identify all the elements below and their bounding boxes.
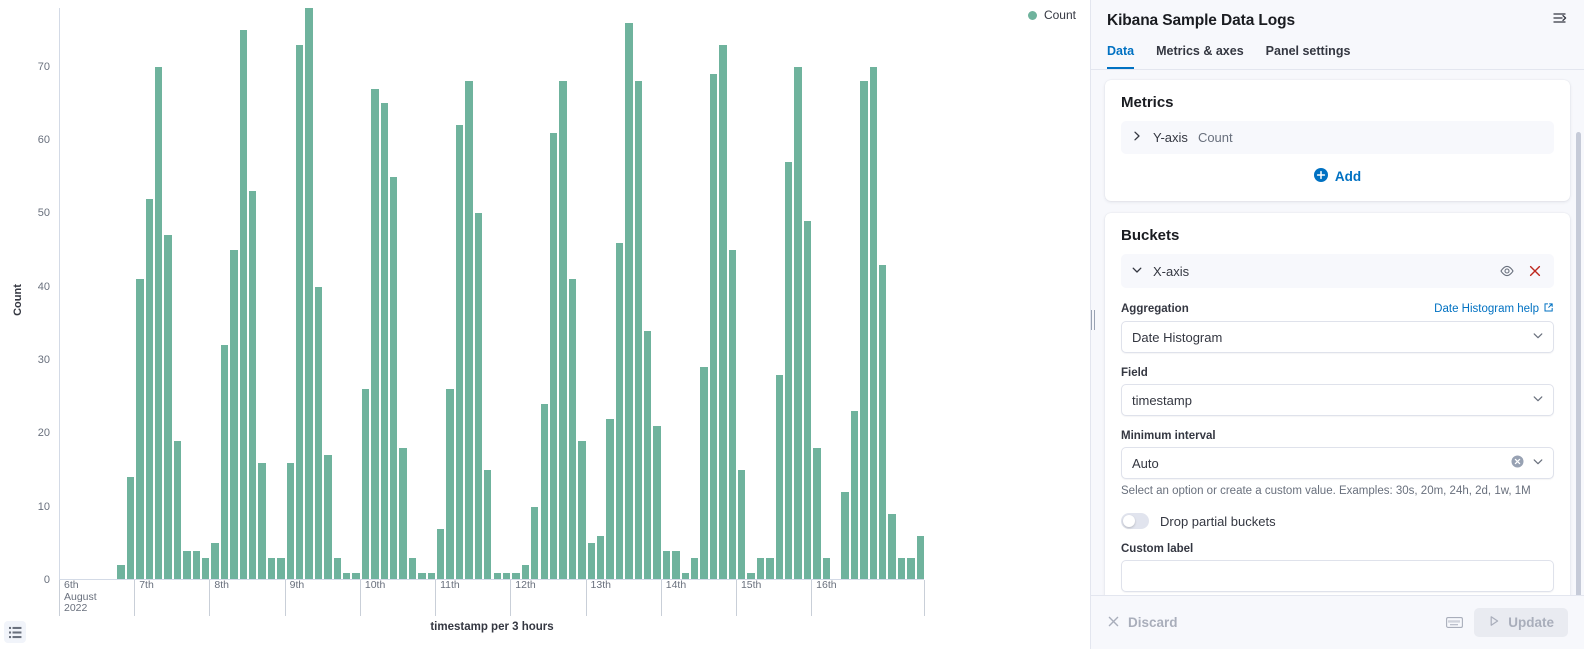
bar[interactable] — [502, 572, 511, 579]
editor-tabs: Data Metrics & axes Panel settings — [1091, 44, 1584, 70]
aggregation-label: Aggregation — [1121, 303, 1189, 315]
bar[interactable] — [398, 447, 407, 579]
bar[interactable] — [681, 572, 690, 579]
bar[interactable] — [333, 557, 342, 579]
buckets-card: Buckets X-axis — [1105, 213, 1570, 595]
bar[interactable] — [182, 550, 191, 579]
x-axis-tick-label: 10th — [360, 580, 385, 616]
close-icon — [1107, 615, 1120, 631]
custom-label-input[interactable] — [1121, 560, 1554, 592]
custom-label-label: Custom label — [1121, 543, 1554, 555]
drop-partial-buckets-row[interactable]: Drop partial buckets — [1121, 513, 1554, 529]
bar[interactable] — [417, 572, 426, 579]
bar[interactable] — [126, 476, 135, 579]
bar[interactable] — [859, 80, 868, 579]
bar[interactable] — [568, 278, 577, 579]
resize-grip-line — [1094, 310, 1095, 330]
bar[interactable] — [276, 557, 285, 579]
add-metric-button[interactable]: Add — [1121, 168, 1554, 185]
y-axis-tick-label: 40 — [6, 281, 50, 293]
x-axis-tick-label: 7th — [134, 580, 154, 616]
bar[interactable] — [737, 469, 746, 579]
bar[interactable] — [916, 535, 925, 579]
bar[interactable] — [192, 550, 201, 579]
bar[interactable] — [577, 440, 586, 579]
bar[interactable] — [342, 572, 351, 579]
chevron-right-icon[interactable] — [1131, 130, 1143, 145]
drop-partial-buckets-toggle[interactable] — [1121, 513, 1149, 529]
bar[interactable] — [671, 550, 680, 579]
y-axis-tick-label: 50 — [6, 207, 50, 219]
chart-pane: Count Count 010203040506070 6th August 2… — [0, 0, 1090, 649]
x-axis-tick-label: 16th — [811, 580, 836, 616]
collapse-panel-icon[interactable] — [1550, 8, 1570, 28]
chevron-down-icon — [1532, 456, 1544, 471]
field-label: Field — [1121, 367, 1554, 379]
buckets-title: Buckets — [1121, 227, 1554, 244]
bar[interactable] — [540, 403, 549, 579]
bar[interactable] — [248, 190, 257, 579]
bar[interactable] — [511, 572, 520, 579]
aggregation-select[interactable]: Date Histogram — [1121, 321, 1554, 353]
editor-scrollbar[interactable] — [1576, 132, 1581, 595]
bar[interactable] — [840, 491, 849, 579]
x-axis: 6th August 20227th8th9th10th11th12th13th… — [59, 580, 925, 620]
update-label: Update — [1508, 615, 1554, 630]
x-axis-tick-label: 14th — [661, 580, 686, 616]
drop-partial-buckets-label: Drop partial buckets — [1160, 514, 1276, 529]
bar[interactable] — [135, 278, 144, 579]
page-title: Kibana Sample Data Logs — [1107, 12, 1568, 30]
y-axis-tick-label: 60 — [6, 134, 50, 146]
bar[interactable] — [314, 286, 323, 579]
bar[interactable] — [521, 564, 530, 579]
plot-bars-area[interactable] — [59, 8, 924, 580]
bar[interactable] — [775, 374, 784, 579]
aggregation-value: Date Histogram — [1132, 330, 1222, 345]
x-axis-tick-label: 6th August 2022 — [59, 580, 97, 616]
minimum-interval-hint: Select an option or create a custom valu… — [1121, 484, 1554, 499]
bar[interactable] — [154, 66, 163, 579]
tab-data[interactable]: Data — [1107, 44, 1134, 69]
date-histogram-help-link[interactable]: Date Histogram help — [1434, 302, 1554, 316]
bar[interactable] — [803, 220, 812, 579]
y-axis: 010203040506070 — [0, 0, 50, 600]
bar[interactable] — [530, 506, 539, 579]
metric-row-label: Y-axis — [1153, 130, 1188, 145]
toggle-knob — [1123, 515, 1135, 527]
y-axis-tick-label: 70 — [6, 61, 50, 73]
bar[interactable] — [558, 80, 567, 579]
x-axis-tick-label: 8th — [209, 580, 229, 616]
x-axis-tick-label: 12th — [510, 580, 535, 616]
list-icon[interactable] — [4, 621, 26, 643]
discard-label: Discard — [1128, 615, 1178, 630]
metric-row-y-axis[interactable]: Y-axis Count — [1121, 121, 1554, 154]
tab-metrics-and-axes[interactable]: Metrics & axes — [1156, 44, 1244, 69]
eye-icon[interactable] — [1498, 262, 1516, 280]
bar[interactable] — [587, 542, 596, 579]
plot-wrapper: Count 010203040506070 6th August 20227th… — [0, 0, 1090, 649]
bar[interactable] — [436, 528, 445, 579]
editor-body: Metrics Y-axis Count — [1091, 70, 1584, 595]
bar[interactable] — [709, 73, 718, 579]
bar[interactable] — [652, 425, 661, 579]
bucket-row-x-axis[interactable]: X-axis — [1121, 254, 1554, 288]
bar[interactable] — [878, 264, 887, 579]
bar[interactable] — [634, 80, 643, 579]
bar[interactable] — [370, 88, 379, 579]
clear-icon[interactable] — [1511, 455, 1524, 471]
bar[interactable] — [351, 572, 360, 579]
bar[interactable] — [427, 572, 436, 579]
y-axis-tick-label: 10 — [6, 501, 50, 513]
close-icon[interactable] — [1526, 262, 1544, 280]
bar[interactable] — [210, 542, 219, 579]
bar[interactable] — [549, 132, 558, 579]
resize-grip-line — [1091, 310, 1092, 330]
update-button[interactable]: Update — [1474, 608, 1568, 637]
minimum-interval-label: Minimum interval — [1121, 430, 1554, 442]
x-axis-tick-label: 11th — [435, 580, 460, 616]
x-axis-tick-label: 13th — [586, 580, 611, 616]
bar[interactable] — [718, 44, 727, 579]
chevron-down-icon[interactable] — [1131, 264, 1143, 279]
bar[interactable] — [286, 462, 295, 579]
bar[interactable] — [257, 462, 266, 579]
bar[interactable] — [662, 550, 671, 579]
editor-footer: Discard Update — [1091, 595, 1584, 649]
chevron-down-icon — [1532, 393, 1544, 408]
metric-row-value: Count — [1198, 130, 1233, 145]
bar[interactable] — [455, 124, 464, 579]
editor-header: Kibana Sample Data Logs — [1091, 0, 1584, 30]
x-axis-end-tick — [924, 580, 929, 616]
bar[interactable] — [699, 366, 708, 579]
bar[interactable] — [869, 66, 878, 579]
bar[interactable] — [229, 249, 238, 579]
tab-panel-settings[interactable]: Panel settings — [1266, 44, 1351, 69]
bar[interactable] — [389, 176, 398, 579]
x-axis-title: timestamp per 3 hours — [59, 621, 925, 633]
minimum-interval-select[interactable]: Auto — [1121, 447, 1554, 479]
bar[interactable] — [887, 513, 896, 579]
bar[interactable] — [728, 249, 737, 579]
bar[interactable] — [822, 557, 831, 579]
bar[interactable] — [116, 564, 125, 579]
bar[interactable] — [624, 22, 633, 579]
x-axis-tick-label: 15th — [736, 580, 761, 616]
keyboard-icon[interactable] — [1444, 615, 1464, 631]
help-link-label: Date Histogram help — [1434, 303, 1539, 315]
bar[interactable] — [643, 330, 652, 579]
bar[interactable] — [765, 557, 774, 579]
bar[interactable] — [361, 388, 370, 579]
bar[interactable] — [493, 572, 502, 579]
bar[interactable] — [605, 418, 614, 579]
metrics-title: Metrics — [1121, 94, 1554, 111]
bar[interactable] — [746, 572, 755, 579]
bar[interactable] — [793, 66, 802, 579]
bar[interactable] — [615, 242, 624, 579]
kibana-visualize-editor: Count Count 010203040506070 6th August 2… — [0, 0, 1584, 649]
aggregation-label-row: Aggregation Date Histogram help — [1121, 302, 1554, 316]
x-axis-tick-label: 9th — [285, 580, 305, 616]
bar[interactable] — [295, 44, 304, 579]
metrics-card: Metrics Y-axis Count — [1105, 80, 1570, 201]
bar[interactable] — [408, 557, 417, 579]
plus-circle-icon — [1314, 168, 1328, 185]
bar[interactable] — [474, 212, 483, 579]
bar[interactable] — [850, 410, 859, 579]
bar[interactable] — [756, 557, 765, 579]
bar[interactable] — [906, 557, 915, 579]
bar[interactable] — [812, 447, 821, 579]
play-icon — [1488, 615, 1500, 630]
y-axis-tick-label: 20 — [6, 427, 50, 439]
bar[interactable] — [323, 454, 332, 579]
bar[interactable] — [201, 557, 210, 579]
y-axis-tick-label: 0 — [6, 574, 50, 586]
bar[interactable] — [596, 535, 605, 579]
y-axis-tick-label: 30 — [6, 354, 50, 366]
bar[interactable] — [690, 557, 699, 579]
bar[interactable] — [220, 344, 229, 579]
chevron-down-icon — [1532, 330, 1544, 345]
bar[interactable] — [897, 557, 906, 579]
discard-button[interactable]: Discard — [1107, 615, 1178, 631]
editor-panel: Kibana Sample Data Logs Data Metrics & a… — [1090, 0, 1584, 649]
bar[interactable] — [145, 198, 154, 579]
bar[interactable] — [239, 29, 248, 579]
bar[interactable] — [784, 161, 793, 579]
bar[interactable] — [445, 388, 454, 579]
bar[interactable] — [173, 440, 182, 579]
external-link-icon — [1543, 302, 1554, 316]
bar[interactable] — [483, 469, 492, 579]
bar[interactable] — [464, 80, 473, 579]
bucket-row-label: X-axis — [1153, 264, 1189, 279]
add-metric-label: Add — [1335, 169, 1361, 184]
minimum-interval-value: Auto — [1132, 456, 1159, 471]
bar[interactable] — [267, 557, 276, 579]
bar[interactable] — [163, 234, 172, 579]
bar[interactable] — [304, 7, 313, 579]
panel-resize-handle[interactable] — [1091, 310, 1095, 330]
bar[interactable] — [380, 102, 389, 579]
field-value: timestamp — [1132, 393, 1192, 408]
field-select[interactable]: timestamp — [1121, 384, 1554, 416]
